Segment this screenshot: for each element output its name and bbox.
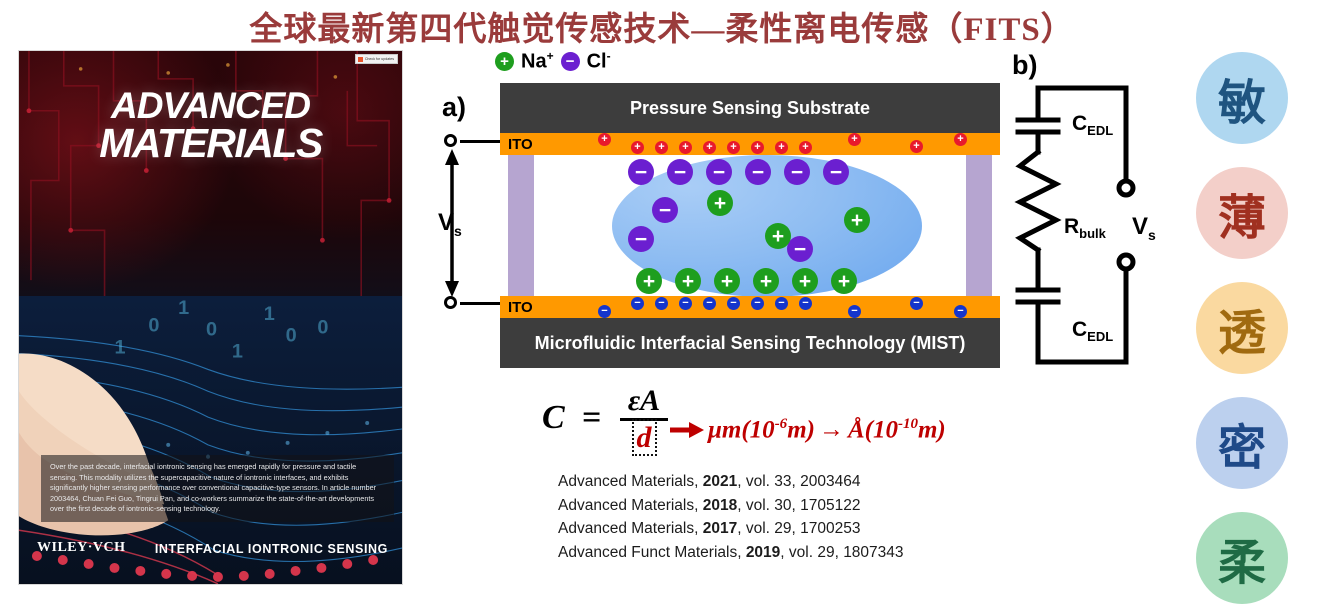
check-for-updates-badge[interactable]: Check for updates	[355, 54, 398, 64]
surface-charge-negative: −	[727, 297, 740, 310]
surface-charge-negative: −	[655, 297, 668, 310]
svg-text:1: 1	[115, 337, 126, 359]
resistor-bulk-label: Rbulk	[1064, 215, 1106, 241]
badge-transparent: 透	[1196, 282, 1288, 374]
chloride-ion: −	[628, 159, 654, 185]
chloride-ion: −	[706, 159, 732, 185]
surface-charge-negative: −	[954, 305, 967, 318]
legend-label-chloride: Cl-	[587, 49, 611, 74]
sodium-ion: +	[636, 268, 662, 294]
cover-strapline: INTERFACIAL IONTRONIC SENSING	[155, 542, 388, 556]
capacitance-formula: C = εA d μm(10-6m) → Å(10-10m)	[530, 385, 1010, 455]
lead-wire-top	[460, 140, 504, 143]
scale-angstrom: Å(10-10m)	[848, 416, 946, 444]
reference-list: Advanced Materials, 2021, vol. 33, 20034…	[558, 470, 1018, 564]
capacitor-bottom-label: CEDL	[1072, 318, 1113, 344]
cover-title-line-1: ADVANCED	[19, 89, 402, 124]
ion-legend: + Na+ − Cl-	[495, 49, 611, 74]
capacitor-top-label: CEDL	[1072, 112, 1113, 138]
surface-charge-positive: +	[631, 141, 644, 154]
voltage-source-label-a: Vs	[438, 209, 462, 239]
surface-charge-negative: −	[631, 297, 644, 310]
publisher-logo: WILEY·VCH	[37, 540, 126, 556]
formula-denominator-wrap: d	[632, 422, 657, 454]
sodium-ion: +	[675, 268, 701, 294]
formula-denominator: d	[632, 419, 657, 456]
surface-charge-negative: −	[679, 297, 692, 310]
spacer-pillar-right	[966, 155, 992, 296]
badge-flexible: 柔	[1196, 512, 1288, 604]
chloride-ion: −	[652, 197, 678, 223]
surface-charge-positive: +	[598, 133, 611, 146]
voltage-source-leads: Vs	[440, 83, 502, 368]
plus-circle-green-icon: +	[495, 52, 514, 71]
sodium-ion: +	[714, 268, 740, 294]
surface-charge-negative: −	[799, 297, 812, 310]
lead-wire-bottom	[460, 302, 504, 305]
chloride-ion: −	[787, 236, 813, 262]
surface-charge-negative: −	[751, 297, 764, 310]
surface-charge-positive: +	[775, 141, 788, 154]
chloride-ion: −	[628, 226, 654, 252]
badge-dense: 密	[1196, 397, 1288, 489]
cover-title-line-2: MATERIALS	[19, 124, 402, 163]
minus-circle-purple-icon: −	[561, 52, 580, 71]
surface-charge-positive: +	[954, 133, 967, 146]
panel-b-label: b)	[1012, 50, 1037, 81]
surface-charge-positive: +	[727, 141, 740, 154]
device-cross-section: Pressure Sensing Substrate ITO + + + + +…	[500, 83, 1000, 368]
formula-symbol-c: C	[542, 399, 565, 437]
formula-scale-annotation: μm(10-6m) → Å(10-10m)	[670, 416, 946, 444]
slide-canvas: 全球最新第四代触觉传感技术—柔性离电传感（FITS）	[0, 0, 1324, 607]
voltage-source-label-b: Vs	[1132, 213, 1156, 243]
reference-item: Advanced Materials, 2017, vol. 29, 17002…	[558, 517, 1018, 541]
surface-charge-negative: −	[598, 305, 611, 318]
surface-charge-negative: −	[848, 305, 861, 318]
journal-cover-image: 01 01 01 10 ADVANCED MATERIALS Check for…	[18, 50, 403, 585]
sodium-ion: +	[844, 207, 870, 233]
chloride-ion: −	[823, 159, 849, 185]
mist-substrate: Microfluidic Interfacial Sensing Technol…	[500, 318, 1000, 368]
badge-sensitive: 敏	[1196, 52, 1288, 144]
ito-electrode-bottom: ITO	[500, 296, 1000, 318]
svg-text:1: 1	[264, 303, 275, 325]
chloride-ion: −	[667, 159, 693, 185]
terminal-bottom[interactable]	[444, 296, 457, 309]
formula-fraction: εA d	[618, 385, 670, 453]
sodium-ion: +	[792, 268, 818, 294]
svg-text:0: 0	[286, 325, 297, 347]
surface-charge-positive: +	[679, 141, 692, 154]
svg-text:0: 0	[206, 319, 217, 341]
panel-a-device-schematic: a) + Na+ − Cl- Vs Pressure Sensing Subst…	[440, 50, 1010, 380]
scale-transition-arrow: →	[819, 416, 844, 444]
page-title: 全球最新第四代触觉传感技术—柔性离电传感（FITS）	[0, 2, 1324, 50]
check-for-updates-label: Check for updates	[365, 57, 394, 61]
cover-abstract-text: Over the past decade, interfacial iontro…	[41, 455, 394, 522]
formula-numerator: εA	[618, 385, 670, 417]
sodium-ion: +	[707, 190, 733, 216]
chloride-ion: −	[745, 159, 771, 185]
scale-micrometer: μm(10-6m)	[708, 416, 815, 444]
crossmark-icon	[358, 57, 363, 62]
surface-charge-negative: −	[910, 297, 923, 310]
reference-item: Advanced Materials, 2021, vol. 33, 20034…	[558, 470, 1018, 494]
surface-charge-negative: −	[775, 297, 788, 310]
reference-item: Advanced Materials, 2018, vol. 30, 17051…	[558, 494, 1018, 518]
badge-thin: 薄	[1196, 167, 1288, 259]
terminal-top[interactable]	[444, 134, 457, 147]
formula-equals: =	[582, 399, 601, 437]
surface-charge-positive: +	[910, 140, 923, 153]
sodium-ion: +	[765, 223, 791, 249]
surface-charge-positive: +	[655, 141, 668, 154]
surface-charge-positive: +	[848, 133, 861, 146]
surface-charge-positive: +	[799, 141, 812, 154]
cover-journal-title: ADVANCED MATERIALS	[19, 89, 402, 162]
surface-charge-negative: −	[703, 297, 716, 310]
svg-text:1: 1	[232, 341, 243, 363]
svg-text:1: 1	[178, 297, 189, 319]
spacer-pillar-left	[508, 155, 534, 296]
chloride-ion: −	[784, 159, 810, 185]
panel-b-equivalent-circuit: b)	[1010, 50, 1190, 380]
red-arrow-icon	[670, 421, 704, 439]
ito-electrode-top: ITO	[500, 133, 1000, 155]
feature-badge-column: 敏 薄 透 密 柔	[1196, 52, 1296, 604]
pressure-sensing-substrate: Pressure Sensing Substrate	[500, 83, 1000, 133]
surface-charge-positive: +	[751, 141, 764, 154]
svg-text:0: 0	[317, 317, 328, 339]
surface-charge-positive: +	[703, 141, 716, 154]
sodium-ion: +	[831, 268, 857, 294]
reference-item: Advanced Funct Materials, 2019, vol. 29,…	[558, 541, 1018, 565]
svg-text:0: 0	[148, 315, 159, 337]
legend-label-sodium: Na+	[521, 49, 554, 74]
sodium-ion: +	[753, 268, 779, 294]
